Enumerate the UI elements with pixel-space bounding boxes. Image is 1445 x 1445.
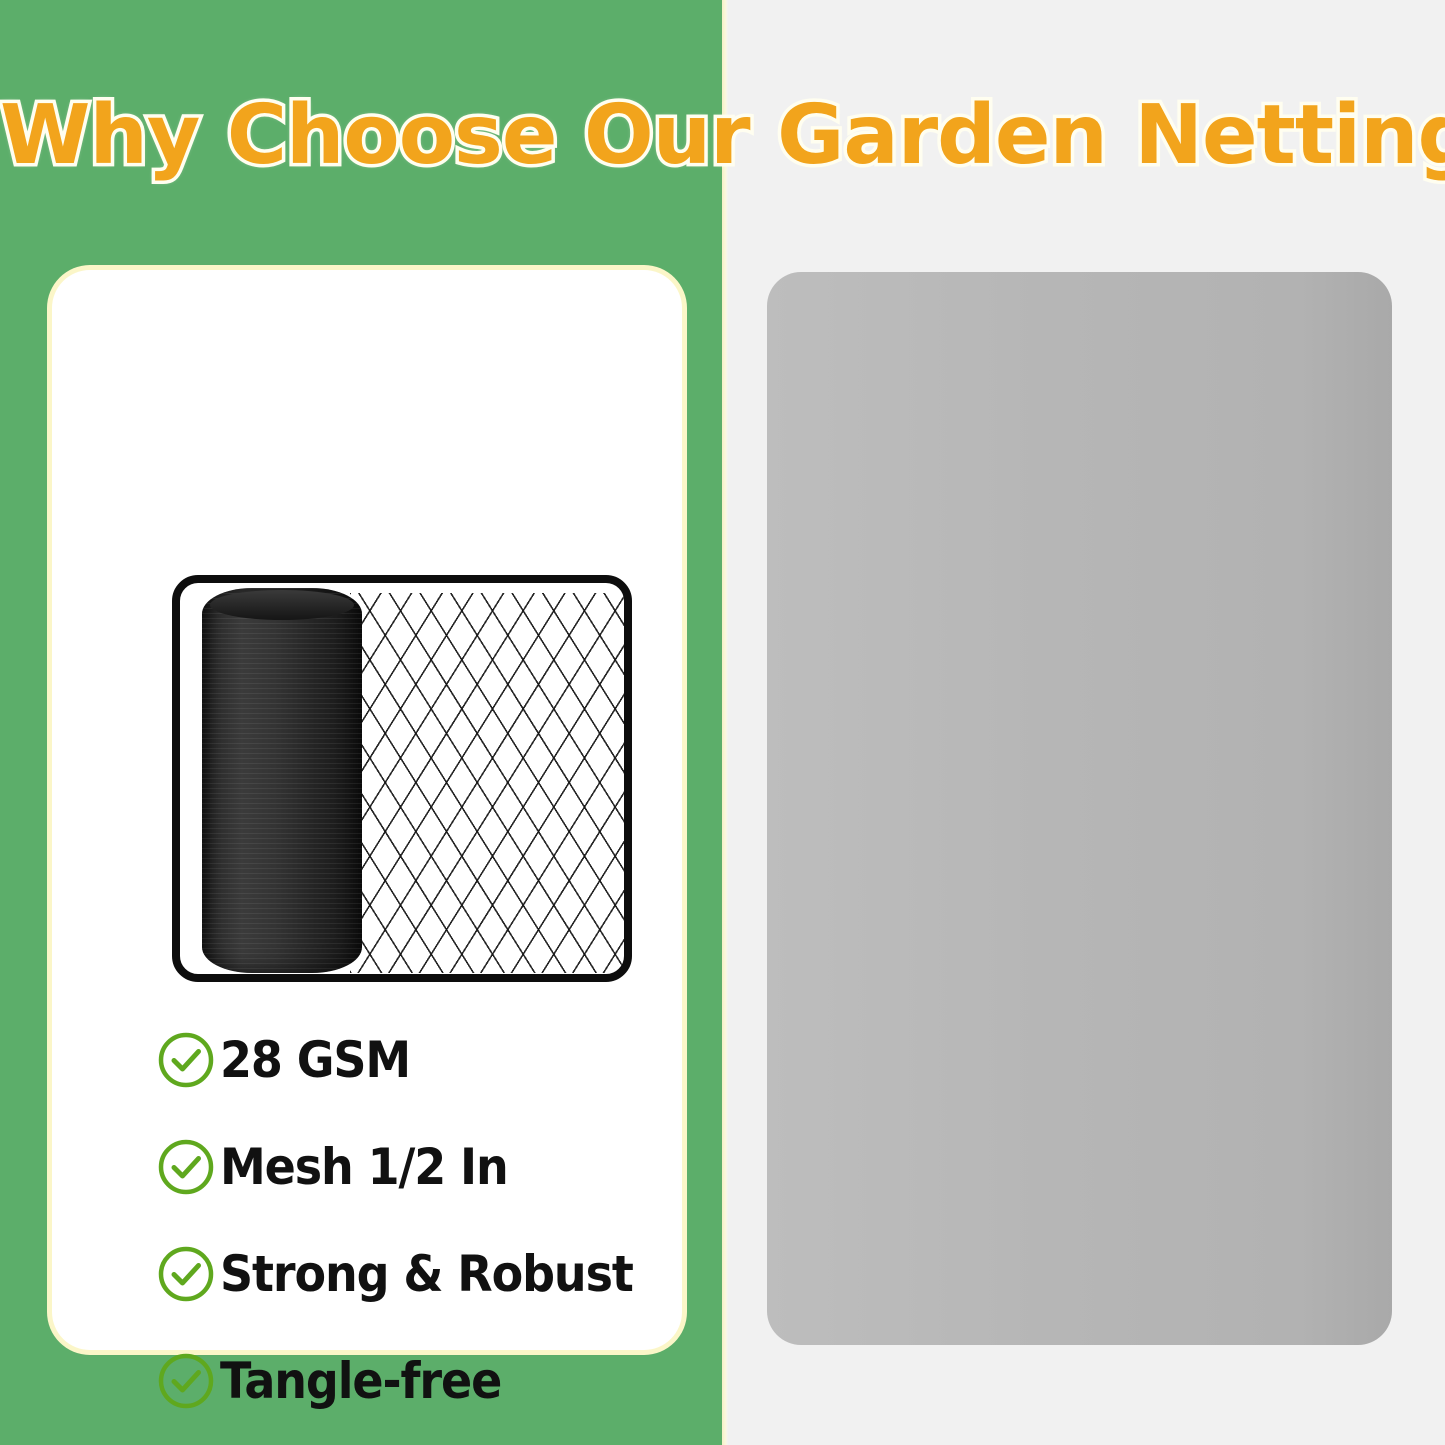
comparison-infographic: Why Choose Our Garden Netting? 28 GSM [0,0,1445,1445]
check-circle-icon [156,1244,216,1304]
list-item: Reusable [156,1434,696,1445]
list-item: Mesh 1/2 In [156,1113,696,1220]
list-item: Strong & Robust [156,1220,696,1327]
black-netting-roll-image [180,583,624,974]
ours-product-photo-frame [172,575,632,982]
list-item: 28 GSM [156,1006,696,1113]
list-item-label: Mesh 1/2 In [220,1142,508,1192]
check-circle-icon [156,1030,216,1090]
list-item-label: Tangle-free [220,1356,501,1406]
list-item: Tangle-free [156,1327,696,1434]
check-circle-icon [156,1351,216,1411]
diamond-mesh-pattern [350,593,632,973]
ours-card: 28 GSM Mesh 1/2 In Str [52,270,682,1350]
check-circle-icon [156,1137,216,1197]
ours-feature-list: 28 GSM Mesh 1/2 In Str [156,1006,696,1445]
others-card: 6-8 GSM Mesh 3/4 In Fr [767,272,1392,1345]
list-item-label: 28 GSM [220,1035,410,1085]
netting-roll [202,588,362,973]
list-item-label: Strong & Robust [220,1249,633,1299]
page-title: Why Choose Our Garden Netting? [0,88,1445,183]
